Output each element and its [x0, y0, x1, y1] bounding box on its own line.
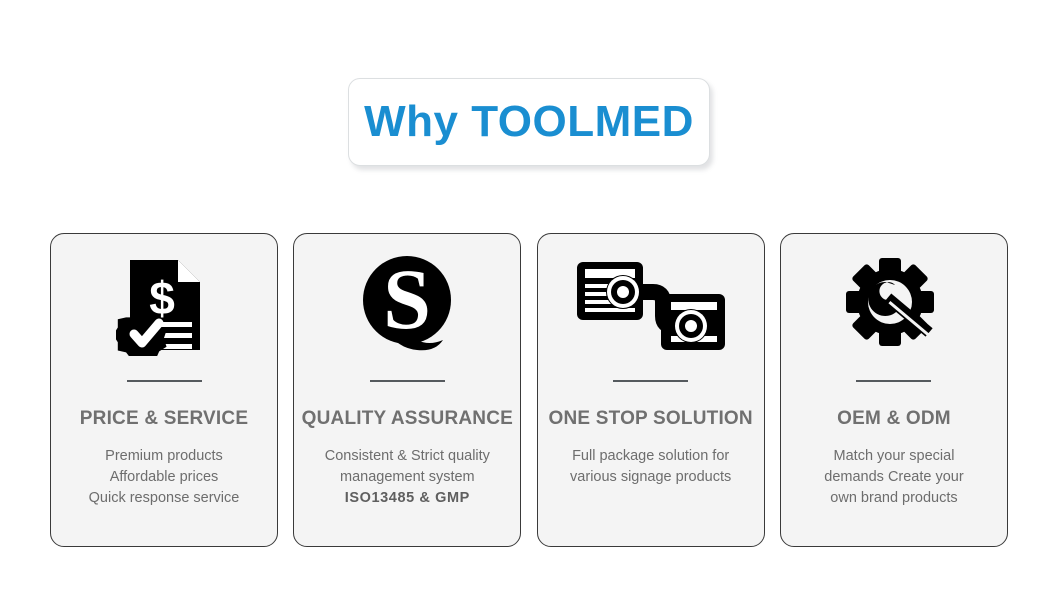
card-body-line: Premium products [89, 446, 240, 467]
card-heading: ONE STOP SOLUTION [548, 408, 752, 430]
card-heading: QUALITY ASSURANCE [302, 408, 513, 430]
feature-card-quality-assurance[interactable]: S QUALITY ASSURANCE Consistent & Strict … [293, 233, 521, 547]
card-body: Consistent & Strict quality management s… [315, 446, 500, 509]
card-heading: PRICE & SERVICE [80, 408, 248, 430]
title-banner-container: Why TOOLMED [0, 78, 1058, 166]
card-divider [613, 380, 688, 382]
feature-card-price-service[interactable]: $ PRICE & SERVICE Premium products Affor… [50, 233, 278, 547]
card-body-line: Affordable prices [89, 467, 240, 488]
card-divider [370, 380, 445, 382]
svg-text:S: S [383, 252, 431, 347]
title-banner: Why TOOLMED [348, 78, 710, 166]
card-body: Premium products Affordable prices Quick… [79, 446, 250, 509]
feature-cards-row: $ PRICE & SERVICE Premium products Affor… [50, 233, 1008, 547]
card-body: Match your special demands Create your o… [814, 446, 973, 509]
card-body-line: Match your special [824, 446, 963, 467]
card-heading: OEM & ODM [837, 408, 951, 430]
card-body-line: Full package solution for [570, 446, 731, 467]
card-body-line: management system [325, 467, 490, 488]
card-body-line: Consistent & Strict quality [325, 446, 490, 467]
page-title: Why TOOLMED [364, 100, 694, 144]
card-divider [127, 380, 202, 382]
gear-wrench-icon [844, 236, 944, 376]
card-body-line: demands Create your [824, 467, 963, 488]
feature-card-one-stop-solution[interactable]: ONE STOP SOLUTION Full package solution … [537, 233, 765, 547]
card-body-line: Quick response service [89, 488, 240, 509]
card-body: Full package solution for various signag… [560, 446, 741, 488]
svg-text:$: $ [149, 272, 175, 324]
card-divider [856, 380, 931, 382]
card-body-line: own brand products [824, 488, 963, 509]
invoice-check-icon: $ [116, 236, 212, 376]
workflow-nodes-icon [575, 236, 727, 376]
feature-card-oem-odm[interactable]: OEM & ODM Match your special demands Cre… [780, 233, 1008, 547]
card-body-line: various signage products [570, 467, 731, 488]
sq-monogram-icon: S [357, 236, 457, 376]
card-body-line-certifications: ISO13485 & GMP [325, 488, 490, 509]
